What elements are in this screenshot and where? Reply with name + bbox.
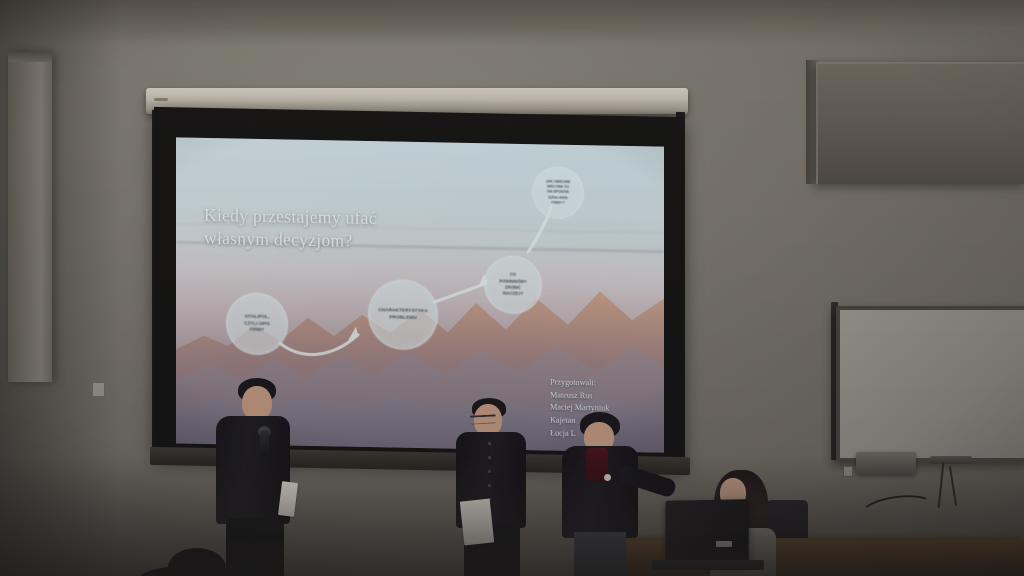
room-lower-shading <box>0 456 1024 576</box>
slide-node-problem-text: CHARAKTERYSTYKAPROBLEMU <box>378 307 428 322</box>
slide-title: Kiedy przestajemy ufać własnym decyzjom? <box>204 204 504 255</box>
slide-node-company: VITALIPOL,CZYLI OPISFIRMY <box>226 292 288 355</box>
presenter1-head <box>242 386 272 420</box>
wall-top-shadow <box>0 0 1024 46</box>
wall-socket <box>92 382 105 397</box>
slide-node-company-text: VITALIPOL,CZYLI OPISFIRMY <box>244 313 270 334</box>
credits-name-1: Mateusz Rus <box>550 389 609 403</box>
wall-cabinet <box>816 62 1024 184</box>
slide-node-current-impact-text: JAK OBECNIEWPŁYWA TONA SPOSÓBDZIAŁANIAFI… <box>546 179 571 206</box>
slide-node-what-to-change: COPOWINNIŚMYZROBIĆINACZEJ? <box>484 255 542 314</box>
presentation-room-photo: Kiedy przestajemy ufać własnym decyzjom?… <box>0 0 1024 576</box>
slide-node-problem: CHARAKTERYSTYKAPROBLEMU <box>368 279 438 350</box>
wall-column-cap <box>8 52 52 62</box>
slide-title-line-2: własnym decyzjom? <box>204 227 504 256</box>
microphone <box>260 430 269 456</box>
wall-column <box>8 52 52 382</box>
interactive-whiteboard[interactable] <box>836 306 1024 462</box>
slide-node-what-to-change-text: COPOWINNIŚMYZROBIĆINACZEJ? <box>499 272 526 298</box>
credits-label: Przygotowali: <box>550 376 609 390</box>
glasses-icon <box>470 414 496 424</box>
slide-node-current-impact: JAK OBECNIEWPŁYWA TONA SPOSÓBDZIAŁANIAFI… <box>532 166 584 219</box>
